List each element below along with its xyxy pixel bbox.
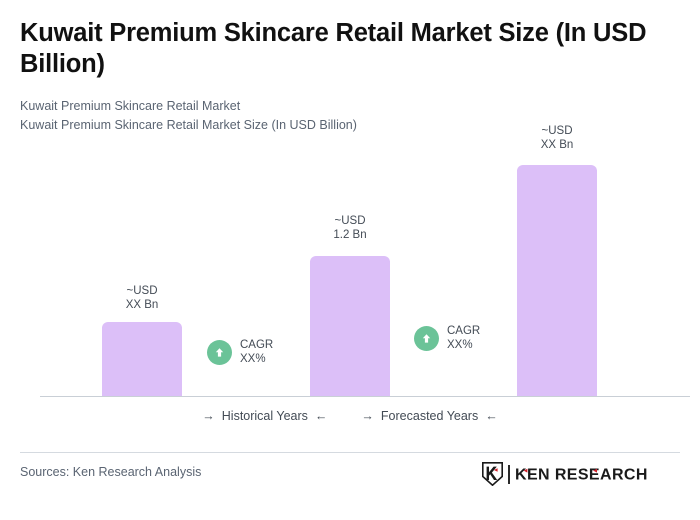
bar-1 [102,322,182,396]
period-label-historical: Historical Years [222,409,308,423]
arrow-left-icon: ← [315,410,328,423]
arrow-right-icon: → [202,410,215,423]
period-legend: → Historical Years ← → Forecasted Years … [0,409,700,423]
ken-research-logo: KEN RESEARCH [482,462,663,486]
ken-research-shield-icon [482,462,503,486]
bar-3 [517,165,597,396]
cagr-badge-2: CAGR XX% [414,324,480,352]
arrow-up-icon [207,340,232,365]
period-historical: → Historical Years ← [202,409,327,423]
arrow-up-icon [414,326,439,351]
arrow-left-icon: ← [485,410,498,423]
period-forecasted: → Forecasted Years ← [361,409,497,423]
bar-value-label-2: ~USD 1.2 Bn [310,214,390,242]
svg-text:KEN RESEARCH: KEN RESEARCH [515,467,648,484]
chart-page: Kuwait Premium Skincare Retail Market Si… [0,0,700,520]
bar-value-label-3: ~USD XX Bn [517,124,597,152]
cagr-label-1: CAGR XX% [240,338,273,366]
bar-chart-plot: ~USD XX Bn CAGR XX% ~USD 1.2 Bn CAGR XX% [0,0,700,400]
sources-text: Sources: Ken Research Analysis [20,465,201,479]
bar-value-label-1: ~USD XX Bn [102,284,182,312]
axis-baseline [40,396,690,397]
footer-divider [20,452,680,453]
ken-research-wordmark: KEN RESEARCH [515,464,663,484]
logo-divider [508,465,510,484]
bar-2 [310,256,390,396]
cagr-label-2: CAGR XX% [447,324,480,352]
arrow-right-icon: → [361,410,374,423]
cagr-badge-1: CAGR XX% [207,338,273,366]
period-label-forecasted: Forecasted Years [381,409,478,423]
